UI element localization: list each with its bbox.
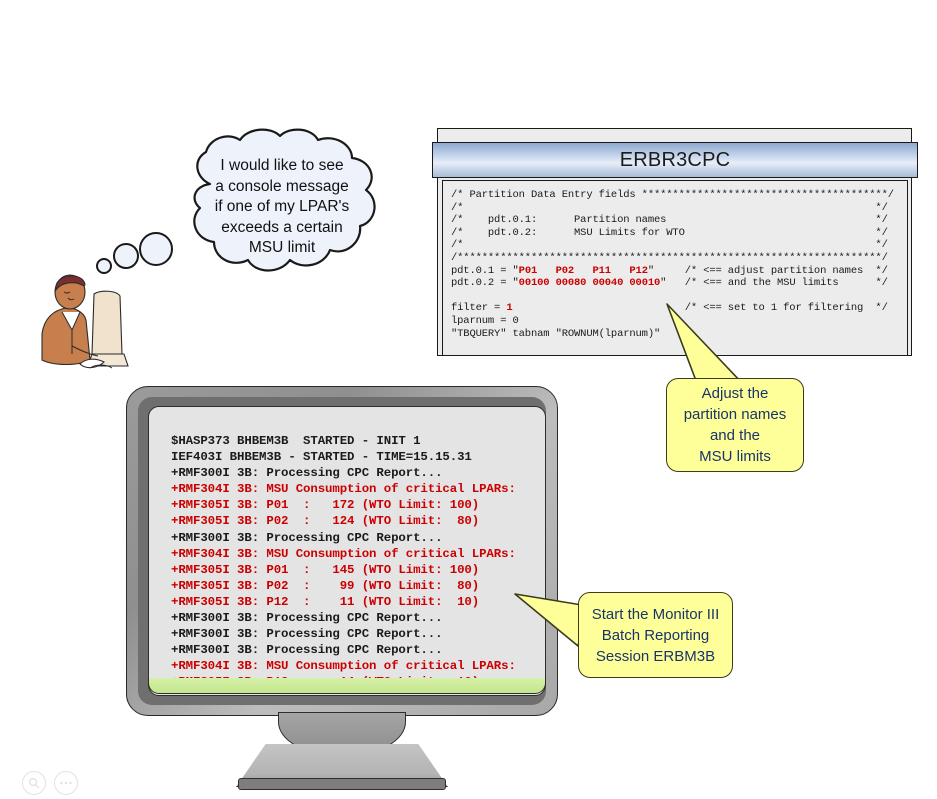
console-line: +RMF304I 3B: MSU Consumption of critical…	[171, 546, 545, 562]
console-line: +RMF304I 3B: MSU Consumption of critical…	[171, 481, 545, 497]
monitor-green-accent-bar	[148, 678, 546, 694]
code-window-titlebar: ERBR3CPC	[432, 142, 918, 178]
console-line: $HASP373 BHBEM3B STARTED - INIT 1	[171, 433, 545, 449]
console-line: +RMF305I 3B: P01 : 145 (WTO Limit: 100)	[171, 562, 545, 578]
more-options-icon[interactable]	[54, 771, 78, 795]
console-line: +RMF300I 3B: Processing CPC Report...	[171, 530, 545, 546]
console-line: +RMF300I 3B: Processing CPC Report...	[171, 465, 545, 481]
monitor-foot	[238, 778, 446, 790]
console-screen[interactable]: $HASP373 BHBEM3B STARTED - INIT 1IEF403I…	[148, 406, 546, 696]
thought-bubble-text: I would like to see a console message if…	[196, 156, 368, 259]
person-at-desk-illustration	[28, 268, 168, 388]
thought-dot-medium	[113, 243, 139, 269]
monitor-illustration: $HASP373 BHBEM3B STARTED - INIT 1IEF403I…	[126, 386, 558, 796]
code-line: /* pdt.0.1: Partition names */	[451, 214, 907, 227]
callout-adjust-partition-names: Adjust the partition names and the MSU l…	[666, 378, 804, 472]
code-line: /* pdt.0.2: MSU Limits for WTO */	[451, 227, 907, 240]
console-line: +RMF300I 3B: Processing CPC Report...	[171, 610, 545, 626]
code-line: /* Partition Data Entry fields *********…	[451, 189, 907, 202]
console-line: +RMF305I 3B: P01 : 172 (WTO Limit: 100)	[171, 497, 545, 513]
console-line: +RMF305I 3B: P02 : 124 (WTO Limit: 80)	[171, 513, 545, 529]
console-line: +RMF305I 3B: P02 : 99 (WTO Limit: 80)	[171, 578, 545, 594]
console-line: +RMF300I 3B: Processing CPC Report...	[171, 626, 545, 642]
zoom-icon[interactable]	[22, 771, 46, 795]
console-line: +RMF304I 3B: MSU Consumption of critical…	[171, 658, 545, 674]
code-line: pdt.0.1 = "P01 P02 P11 P12" /* <== adjus…	[451, 265, 907, 278]
thought-dot-small	[96, 258, 112, 274]
code-window-title: ERBR3CPC	[620, 149, 731, 172]
slide-canvas: I would like to see a console message if…	[0, 0, 937, 799]
code-line: /***************************************…	[451, 252, 907, 265]
bottom-icon-group	[22, 771, 78, 795]
callout-start-monitor-session: Start the Monitor III Batch Reporting Se…	[578, 592, 733, 678]
code-line: /* */	[451, 202, 907, 215]
console-line: +RMF305I 3B: P12 : 11 (WTO Limit: 10)	[171, 594, 545, 610]
console-line: IEF403I BHBEM3B - STARTED - TIME=15.15.3…	[171, 449, 545, 465]
code-line: /* */	[451, 239, 907, 252]
console-line: +RMF300I 3B: Processing CPC Report...	[171, 642, 545, 658]
code-line: pdt.0.2 = "00100 00080 00040 00010" /* <…	[451, 277, 907, 290]
